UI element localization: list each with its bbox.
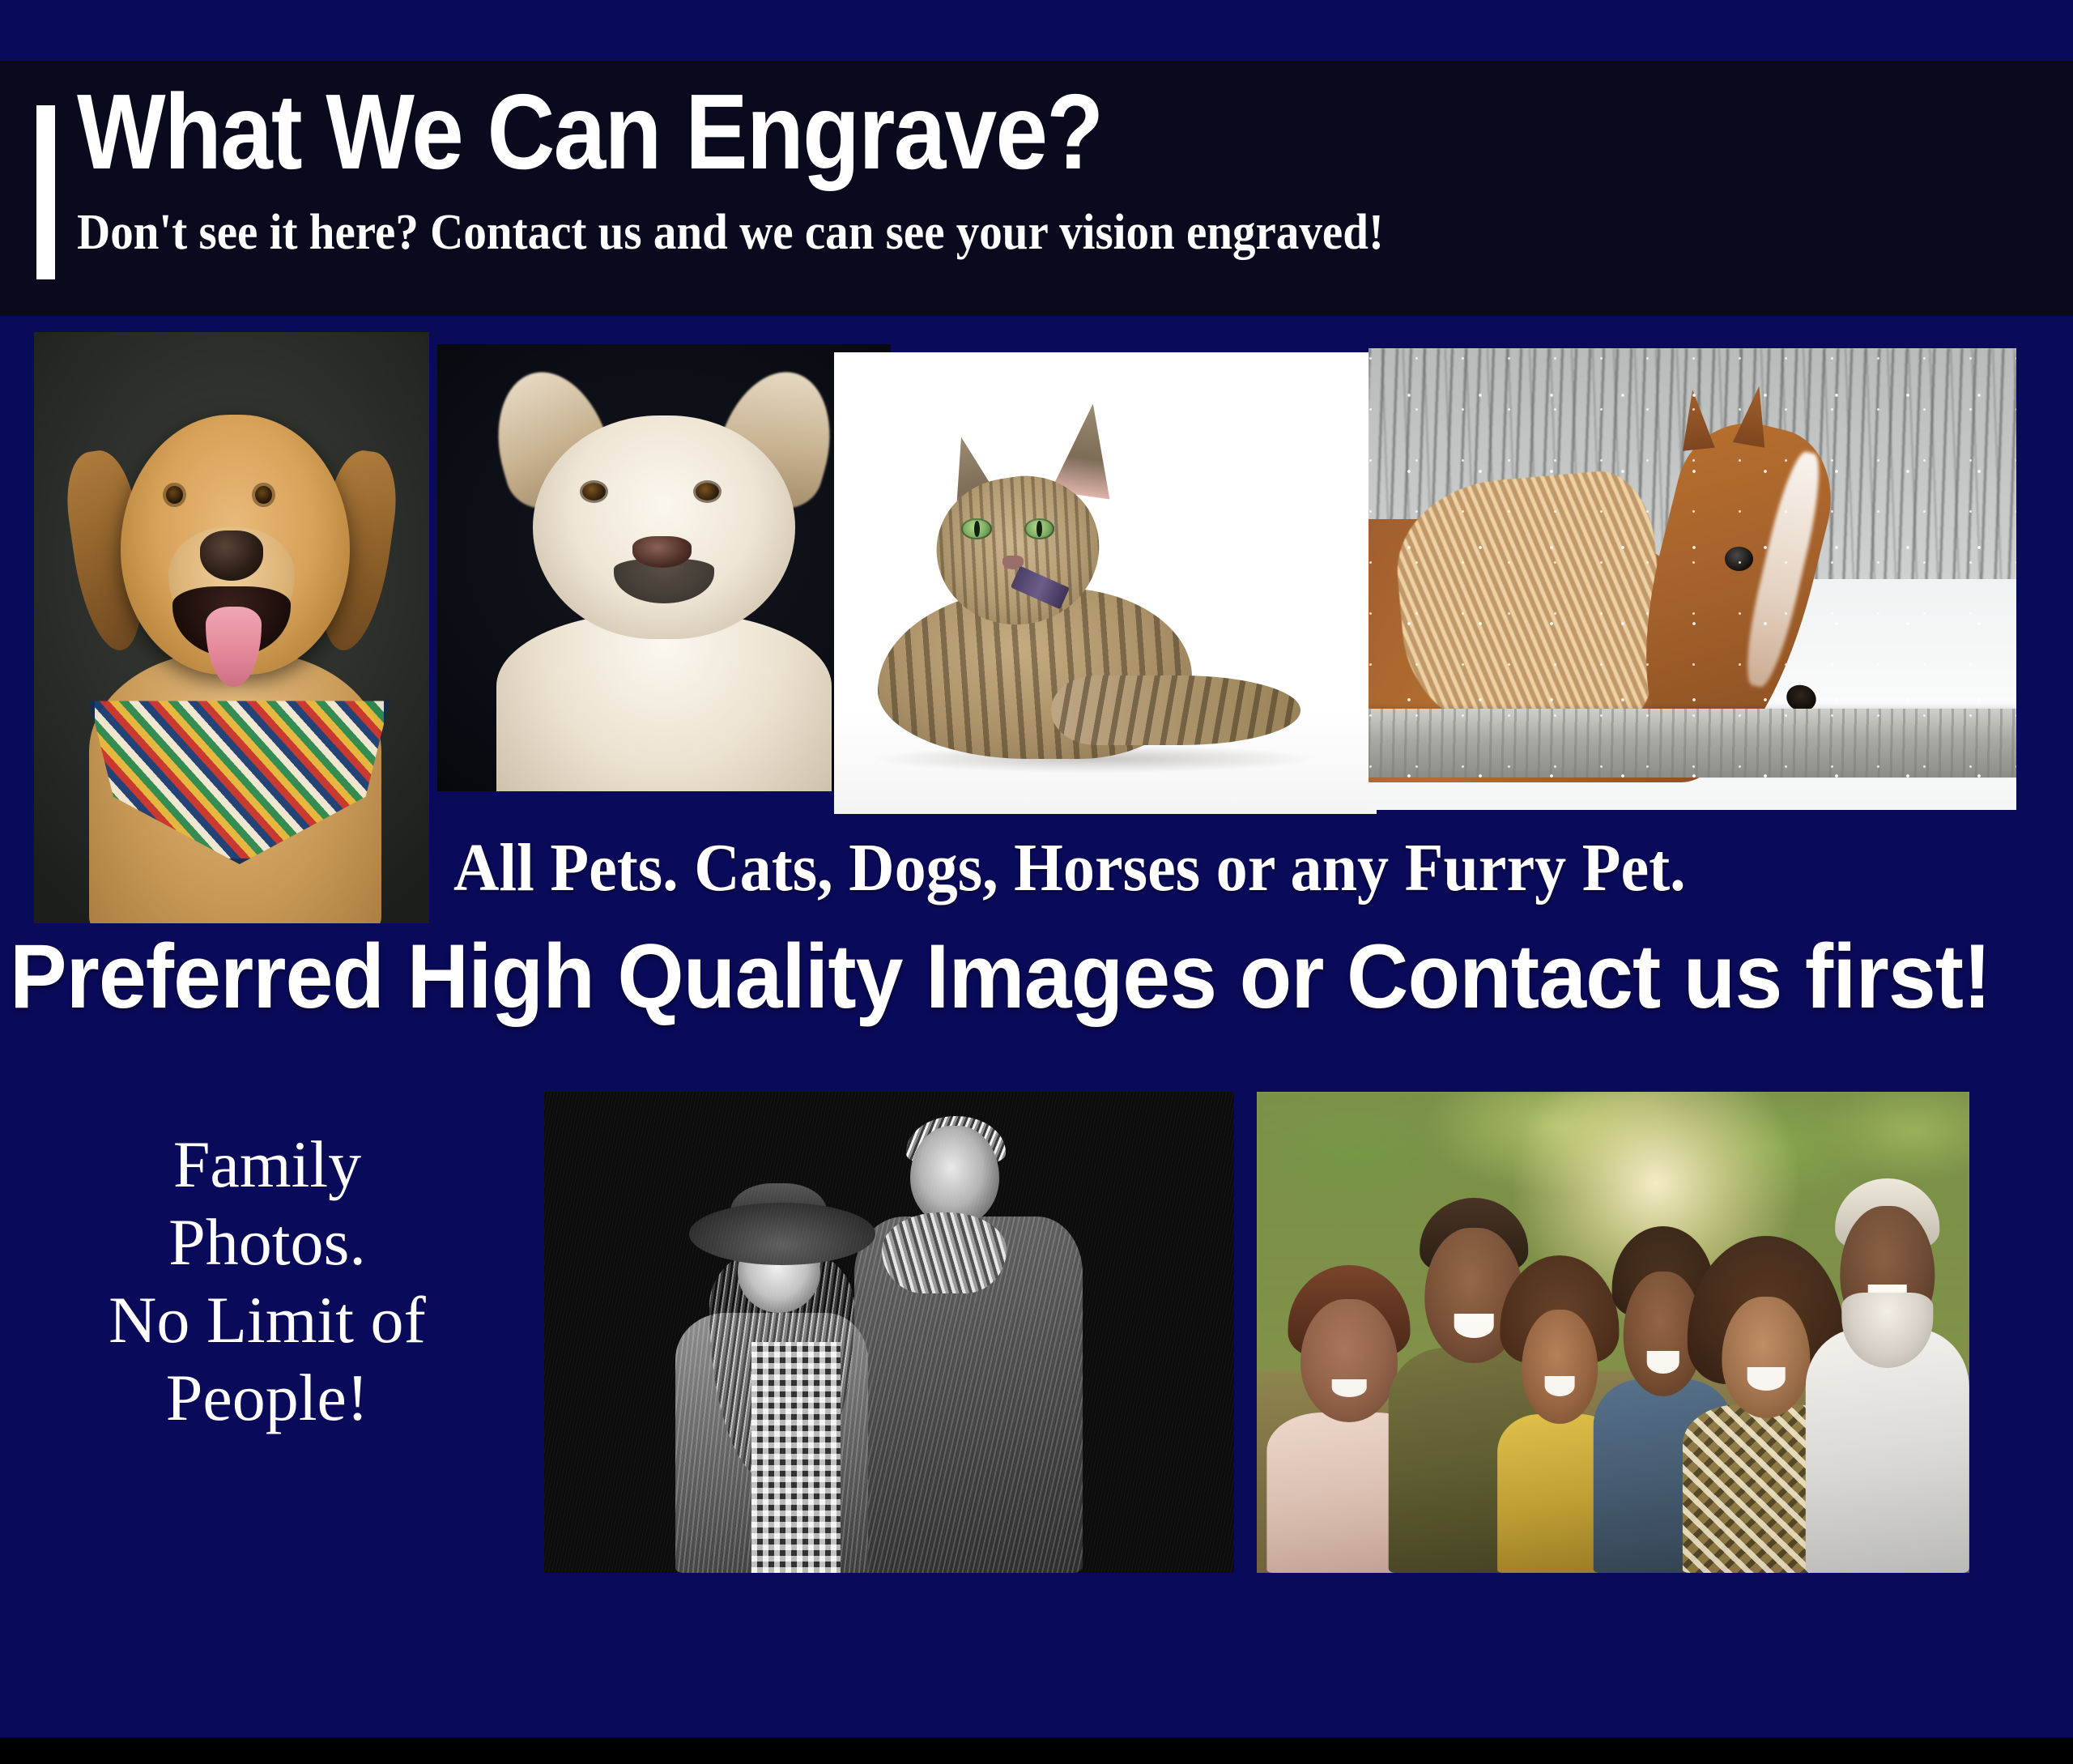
cat-front-leg	[1051, 675, 1300, 745]
white-dog-head	[533, 415, 796, 639]
engraving-promo-poster: What We Can Engrave? Don't see it here? …	[0, 0, 2073, 1764]
photo-labrador-dog	[34, 332, 429, 923]
horse-wooden-fence	[1369, 709, 2016, 778]
family-person-2-smile	[1454, 1314, 1494, 1338]
white-dog-chest	[496, 612, 832, 791]
family-person-5-head	[1722, 1297, 1811, 1418]
photo-horse-in-snow	[1369, 348, 2016, 810]
family-caption-line-1: Family	[73, 1126, 462, 1204]
photo-family-group	[1257, 1092, 1969, 1573]
bottom-black-strip	[0, 1737, 2073, 1764]
couple-man-scarf	[882, 1212, 1006, 1294]
dog-eye-right	[255, 486, 271, 505]
quality-banner-text: Preferred High Quality Images or Contact…	[10, 931, 1990, 1022]
white-dog-nose	[632, 536, 692, 568]
family-person-6	[1806, 1178, 1969, 1573]
horse-eye	[1725, 547, 1753, 571]
page-title: What We Can Engrave?	[77, 79, 1102, 185]
family-caption-line-3: No Limit of	[73, 1281, 462, 1359]
photo-tabby-cat	[834, 352, 1377, 814]
family-person-1-smile	[1332, 1379, 1367, 1398]
header-subtitle: Don't see it here? Contact us and we can…	[77, 205, 1384, 260]
family-photos-caption: Family Photos. No Limit of People!	[73, 1126, 462, 1437]
family-person-5-smile	[1747, 1367, 1786, 1391]
family-person-3-head	[1522, 1310, 1598, 1424]
couple-woman-plaid-scarf	[751, 1342, 841, 1573]
dog-nose	[200, 530, 263, 581]
family-person-4-smile	[1646, 1351, 1679, 1374]
family-person-1-head	[1300, 1299, 1398, 1422]
family-caption-line-4: People!	[73, 1359, 462, 1437]
couple-man-head	[910, 1126, 1000, 1227]
photo-white-dog	[437, 344, 891, 791]
header-accent-bar	[36, 105, 55, 279]
pet-section-caption: All Pets. Cats, Dogs, Horses or any Furr…	[453, 834, 1686, 902]
header-banner: What We Can Engrave? Don't see it here? …	[0, 61, 2073, 316]
couple-woman-hat-brim	[689, 1203, 875, 1265]
photo-engraved-couple	[544, 1092, 1234, 1573]
family-caption-line-2: Photos.	[73, 1204, 462, 1281]
